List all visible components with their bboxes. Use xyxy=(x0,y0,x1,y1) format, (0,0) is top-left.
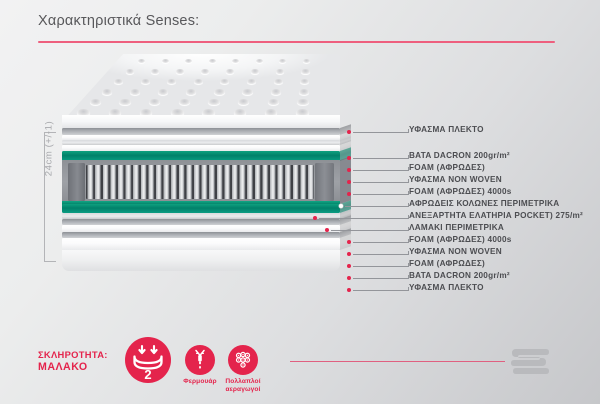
firmness-label: ΣΚΛΗΡΟΤΗΤΑ: ΜΑΛΑΚΟ xyxy=(38,348,108,374)
firmness-level-icon: 2 xyxy=(125,337,171,383)
callout-dot xyxy=(347,168,351,172)
callout-label: ΑΝΕΞΑΡΤΗΤΑ ΕΛΑΤΗΡΙΑ POCKET) 275/m² xyxy=(409,211,583,220)
callout-label: ΥΦΑΣΜΑ NON WOVEN xyxy=(409,247,502,256)
callout-dot xyxy=(347,192,351,196)
callout-dot xyxy=(347,264,351,268)
callout-dot xyxy=(325,228,329,232)
firmness-level-number: 2 xyxy=(144,367,151,382)
footer-features: ΣΚΛΗΡΟΤΗΤΑ: ΜΑΛΑΚΟ 2 Φερμουάρ xyxy=(0,336,600,404)
callout-dot xyxy=(347,240,351,244)
callout-leader-line xyxy=(331,230,409,231)
callout-list: ΥΦΑΣΜΑ ΠΛΕΚΤΟBATA DACRON 200gr/m²FOAM (Α… xyxy=(0,48,600,293)
feature-caption-air-vents: Πολλαπλοί αεραγωγοί xyxy=(221,378,265,394)
brand-logo-icon xyxy=(510,345,554,377)
footer-divider-rule xyxy=(290,361,505,362)
callout-dot xyxy=(347,252,351,256)
firmness-title: ΣΚΛΗΡΟΤΗΤΑ: xyxy=(38,349,108,360)
callout-label: ΥΦΑΣΜΑ NON WOVEN xyxy=(409,175,502,184)
callout-label: BATA DACRON 200gr/m² xyxy=(409,271,510,280)
callout-label: FOAM (ΑΦΡΩΔΕΣ) 4000s xyxy=(409,235,512,244)
callout-leader-line xyxy=(353,158,409,159)
callout-leader-line xyxy=(353,254,409,255)
callout-label: ΥΦΑΣΜΑ ΠΛΕΚΤΟ xyxy=(409,125,484,134)
callout-label: ΑΦΡΩΔΕΙΣ ΚΟΛΩΝΕΣ ΠΕΡΙΜΕΤΡΙΚΑ xyxy=(409,199,559,208)
callout-dot xyxy=(339,204,343,208)
firmness-badge[interactable]: 2 xyxy=(125,337,171,383)
feature-badge-air-vents[interactable] xyxy=(228,345,258,375)
header: Χαρακτηριστικά Senses: xyxy=(0,0,600,48)
callout-leader-line xyxy=(353,290,409,291)
callout-dot xyxy=(313,216,317,220)
callout-leader-line xyxy=(353,170,409,171)
callout-leader-line xyxy=(353,182,409,183)
callout-dot xyxy=(347,156,351,160)
air-vent-icon xyxy=(228,345,258,375)
page-title: Χαρακτηριστικά Senses: xyxy=(38,13,199,29)
callout-leader-line xyxy=(345,206,409,207)
mattress-cutaway-diagram: 24cm (+/-1) ΥΦΑΣΜΑ ΠΛΕΚΤΟBATA DACRON 200… xyxy=(0,48,600,293)
callout-label: ΥΦΑΣΜΑ ΠΛΕΚΤΟ xyxy=(409,283,484,292)
callout-dot xyxy=(347,288,351,292)
callout-dot xyxy=(347,276,351,280)
callout-dot xyxy=(347,180,351,184)
zipper-icon xyxy=(185,345,215,375)
callout-leader-line xyxy=(353,242,409,243)
firmness-value: ΜΑΛΑΚΟ xyxy=(38,361,108,374)
callout-leader-line xyxy=(353,266,409,267)
feature-badge-zipper[interactable] xyxy=(185,345,215,375)
callout-label: ΛΑΜΑΚΙ ΠΕΡΙΜΕΤΡΙΚΑ xyxy=(409,223,504,232)
callout-leader-line xyxy=(353,194,409,195)
callout-leader-line xyxy=(353,278,409,279)
callout-label: FOAM (ΑΦΡΩΔΕΣ) xyxy=(409,163,485,172)
callout-dot xyxy=(347,130,351,134)
callout-label: BATA DACRON 200gr/m² xyxy=(409,151,510,160)
callout-leader-line xyxy=(319,218,409,219)
callout-leader-line xyxy=(353,132,409,133)
feature-caption-zipper: Φερμουάρ xyxy=(179,378,221,386)
title-underline-rule xyxy=(38,41,555,43)
callout-label: FOAM (ΑΦΡΩΔΕΣ) 4000s xyxy=(409,187,512,196)
callout-label: FOAM (ΑΦΡΩΔΕΣ) xyxy=(409,259,485,268)
